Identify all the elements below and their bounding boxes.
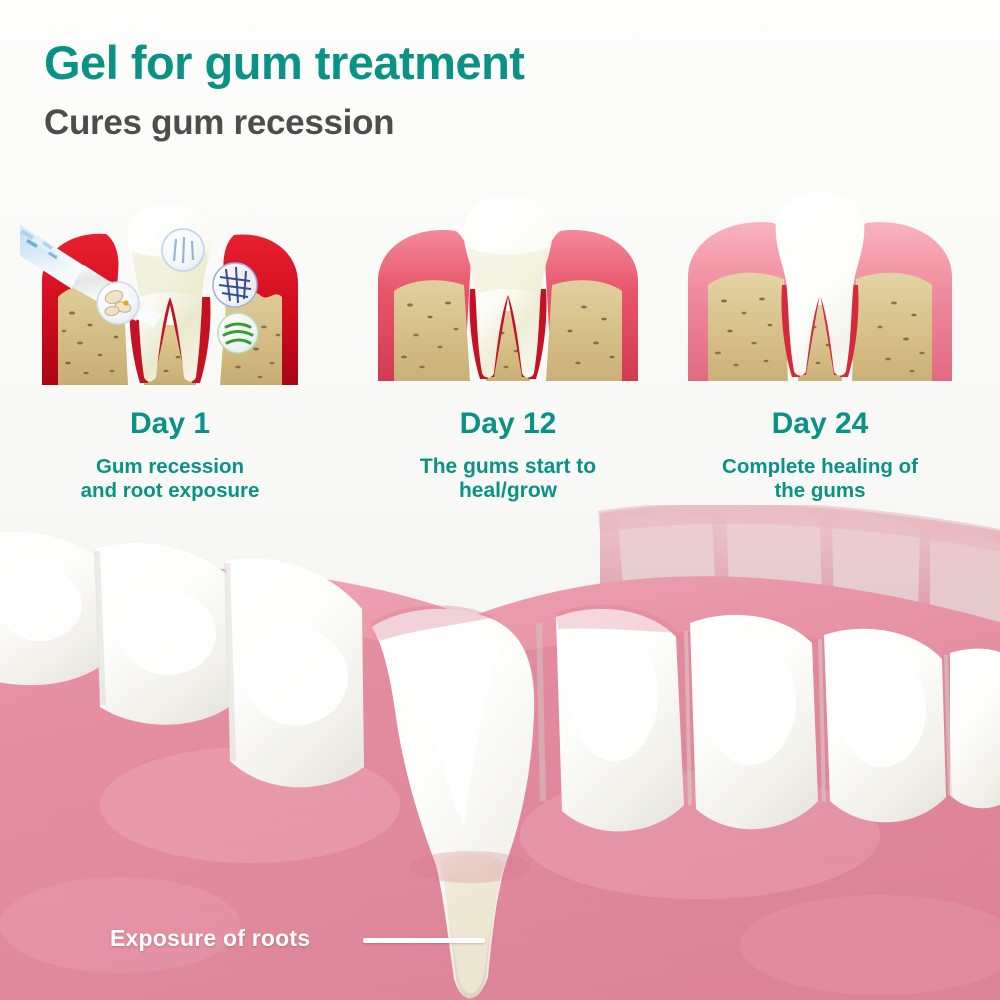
day-label-24: Day 24: [660, 407, 980, 441]
day-caption-1-line2: and root exposure: [10, 479, 330, 503]
page-subtitle: Cures gum recession: [44, 104, 394, 141]
exposure-of-roots-label: Exposure of roots: [110, 925, 310, 952]
stage-day-1: Day 1 Gum recession and root exposure: [10, 185, 330, 525]
poster-root: Gel for gum treatment Cures gum recessio…: [0, 0, 1000, 1000]
day-caption-12-line2: heal/grow: [348, 479, 668, 503]
stage-day-24: Day 24 Complete healing of the gums: [660, 185, 980, 525]
day-label-1: Day 1: [10, 407, 330, 441]
day-caption-12-line1: The gums start to: [348, 455, 668, 479]
tooth-cross-section-day-24-icon: [670, 185, 970, 400]
tooth-cross-section-day-12-icon: [358, 185, 658, 400]
day-label-12: Day 12: [348, 407, 668, 441]
page-title: Gel for gum treatment: [44, 38, 524, 88]
day-caption-24-line1: Complete healing of: [660, 455, 980, 479]
pointer-line-icon: [363, 938, 485, 943]
day-caption-12: The gums start to heal/grow: [348, 455, 668, 503]
stage-day-12: Day 12 The gums start to heal/grow: [348, 185, 668, 525]
tooth-cross-section-day-1-icon: [20, 185, 320, 400]
day-caption-1-line1: Gum recession: [10, 455, 330, 479]
day-caption-24-line2: the gums: [660, 479, 980, 503]
day-caption-1: Gum recession and root exposure: [10, 455, 330, 502]
stage-row: Day 1 Gum recession and root exposure: [0, 185, 1000, 525]
day-caption-24: Complete healing of the gums: [660, 455, 980, 502]
